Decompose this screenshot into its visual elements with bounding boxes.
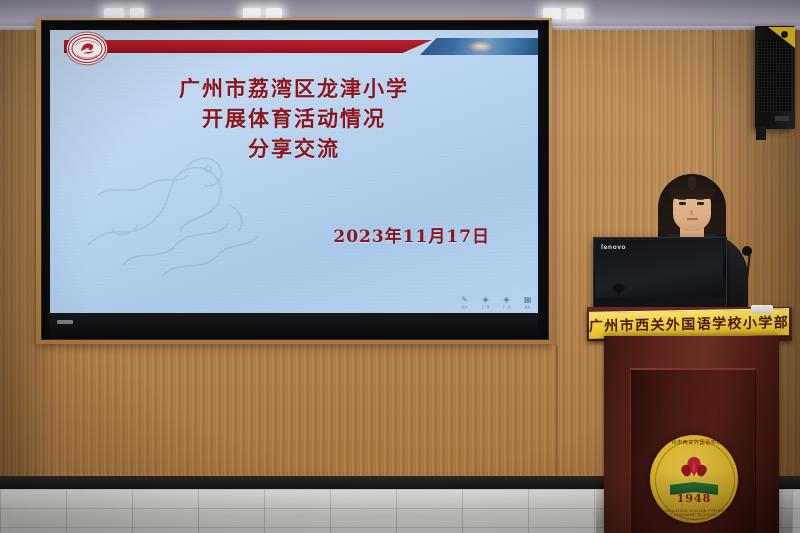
slide-toolbar-next-button[interactable]: ◈ 下一页 <box>502 295 511 309</box>
slide-title-line-2: 开展体育活动情况 <box>50 104 538 134</box>
grid-icon: ▦ <box>523 295 532 304</box>
microphone-head-icon <box>613 284 625 292</box>
presenter-eye-right <box>697 202 704 205</box>
presenter-nose <box>690 210 693 215</box>
slide-toolbar-label: 上一页 <box>481 305 489 309</box>
slide-toolbar-pen-button[interactable]: ✎ 批注 <box>460 295 469 309</box>
projection-screen[interactable]: 广州市荔湾区龙津小学 开展体育活动情况 分享交流 2023年11月17日 ✎ 批… <box>50 30 538 313</box>
podium-wireless-device <box>751 305 773 313</box>
pen-icon: ✎ <box>460 295 469 304</box>
emblem-flower-icon <box>677 454 711 486</box>
slide-toolbar-grid-button[interactable]: ▦ 更多 <box>523 295 532 309</box>
speaker-port <box>775 116 789 121</box>
speaker-badge-dot-icon <box>781 31 788 38</box>
slide-date: 2023年11月17日 <box>333 222 490 247</box>
display-brand-logo <box>57 320 73 324</box>
emblem-year: 1948 <box>650 492 738 505</box>
presentation-room-photo: 广州市荔湾区龙津小学 开展体育活动情况 分享交流 2023年11月17日 ✎ 批… <box>0 0 800 533</box>
next-icon: ◈ <box>502 295 511 304</box>
display-lower-bezel <box>50 313 538 337</box>
presenter-hair-part <box>688 176 696 190</box>
presenter-eyebrow-left <box>678 198 686 200</box>
presenter-eyebrow-right <box>696 198 704 200</box>
slide-toolbar-label: 更多 <box>525 305 531 309</box>
wall-speaker <box>755 26 795 129</box>
presenter-eye-left <box>679 202 686 205</box>
slide-toolbar[interactable]: ✎ 批注 ◈ 上一页 ◈ 下一页 ▦ 更多 <box>460 295 532 309</box>
presenter-mouth <box>687 218 698 220</box>
slide-toolbar-label: 下一页 <box>502 305 510 309</box>
slide-toolbar-previous-button[interactable]: ◈ 上一页 <box>481 295 490 309</box>
previous-icon: ◈ <box>481 295 490 304</box>
ceiling-light <box>566 8 584 19</box>
slide-title-line-1: 广州市荔湾区龙津小学 <box>50 74 538 104</box>
slide-red-band <box>64 40 432 53</box>
slide-header-band <box>50 30 538 64</box>
microphone-head-icon <box>742 246 752 256</box>
slide-school-crest-icon <box>68 34 106 63</box>
monitor-brand-label: lenovo <box>601 244 626 251</box>
school-emblem: 广州市西关外国语学校 1948 GUANGZHOU XIGUAN FOREIGN… <box>650 435 738 523</box>
podium-banner-text: 广州市西关外国语学校小学部 <box>589 312 789 336</box>
speaker-mount-bracket <box>756 126 766 140</box>
slide-title: 广州市荔湾区龙津小学 开展体育活动情况 分享交流 <box>50 74 538 164</box>
speaker-grill <box>758 40 792 112</box>
emblem-arc-top-text: 广州市西关外国语学校 <box>650 439 738 446</box>
emblem-arc-bottom-text: GUANGZHOU XIGUAN FOREIGN LANGUAGE SCHOOL <box>650 509 738 517</box>
slide-title-line-3: 分享交流 <box>50 134 538 164</box>
slide-header-photo <box>420 38 538 55</box>
slide-toolbar-label: 批注 <box>462 305 468 309</box>
